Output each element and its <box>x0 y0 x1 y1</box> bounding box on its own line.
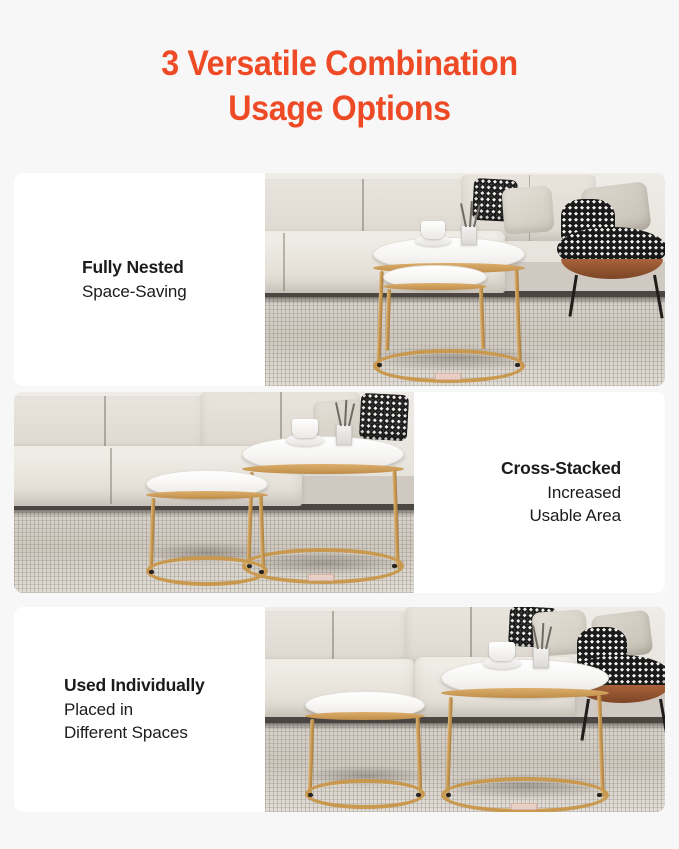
small-nesting-table <box>146 470 268 574</box>
page-title: 3 Versatile Combination Usage Options <box>27 42 652 132</box>
table-leg-1 <box>385 289 391 351</box>
caption-subline-2: Different Spaces <box>64 721 188 744</box>
large-nesting-table <box>441 659 609 803</box>
feature-card-fully-nested: Fully Nested Space-Saving <box>14 173 665 386</box>
page-title-line-1: 3 Versatile Combination <box>27 42 652 87</box>
diffuser-bottle <box>336 424 352 445</box>
caption-subline-2: Usable Area <box>529 504 621 527</box>
table-gold-rim <box>383 283 487 290</box>
sofa-seam <box>110 448 112 504</box>
caption-fully-nested: Fully Nested Space-Saving <box>14 173 265 386</box>
table-foot-2 <box>515 363 520 367</box>
table-gold-rim <box>305 712 425 720</box>
table-foot-1 <box>377 363 382 367</box>
brand-label <box>308 574 334 581</box>
table-leg-2 <box>597 695 605 797</box>
brand-label <box>435 373 461 380</box>
table-leg-1 <box>445 697 453 799</box>
table-foot-1 <box>308 793 313 797</box>
caption-headline: Cross-Stacked <box>501 457 621 481</box>
table-foot-2 <box>597 793 602 797</box>
feature-card-cross-stacked: Cross-Stacked Increased Usable Area <box>14 392 665 593</box>
table-base-ring <box>305 779 425 809</box>
caption-used-individually: Used Individually Placed in Different Sp… <box>14 607 265 812</box>
feature-card-used-individually: Used Individually Placed in Different Sp… <box>14 607 665 812</box>
photo-fully-nested <box>265 173 665 386</box>
diffuser-bottle <box>461 225 477 245</box>
table-foot-2 <box>416 793 421 797</box>
small-nesting-table <box>305 691 425 799</box>
caption-headline: Fully Nested <box>82 256 184 280</box>
table-leg-2 <box>416 717 423 797</box>
photo-used-individually <box>265 607 665 812</box>
caption-subline-1: Space-Saving <box>82 280 187 303</box>
small-nesting-table <box>383 265 487 343</box>
table-gold-rim <box>146 491 268 499</box>
caption-cross-stacked: Cross-Stacked Increased Usable Area <box>414 392 651 593</box>
sofa-seam <box>283 233 285 291</box>
table-foot-1 <box>149 570 154 574</box>
page-title-line-2: Usage Options <box>27 87 652 132</box>
houndstooth-pillow <box>359 393 409 441</box>
table-leg-2 <box>514 269 521 367</box>
table-foot-1 <box>446 793 451 797</box>
table-base-ring <box>146 556 268 586</box>
table-leg-2 <box>392 470 399 568</box>
brand-label <box>511 803 537 810</box>
coffee-cup <box>489 642 515 661</box>
coffee-cup <box>292 419 318 438</box>
caption-subline-1: Increased <box>547 481 621 504</box>
caption-subline-1: Placed in <box>64 698 133 721</box>
photo-cross-stacked <box>14 392 414 593</box>
table-foot-2 <box>259 570 264 574</box>
accent-pillow <box>501 185 554 234</box>
table-gold-rim <box>441 688 609 698</box>
coffee-cup <box>421 221 445 239</box>
table-leg-2 <box>479 287 485 349</box>
diffuser-bottle <box>533 647 549 668</box>
table-foot-2 <box>392 564 397 568</box>
table-leg-2 <box>259 496 266 574</box>
caption-headline: Used Individually <box>64 674 205 698</box>
